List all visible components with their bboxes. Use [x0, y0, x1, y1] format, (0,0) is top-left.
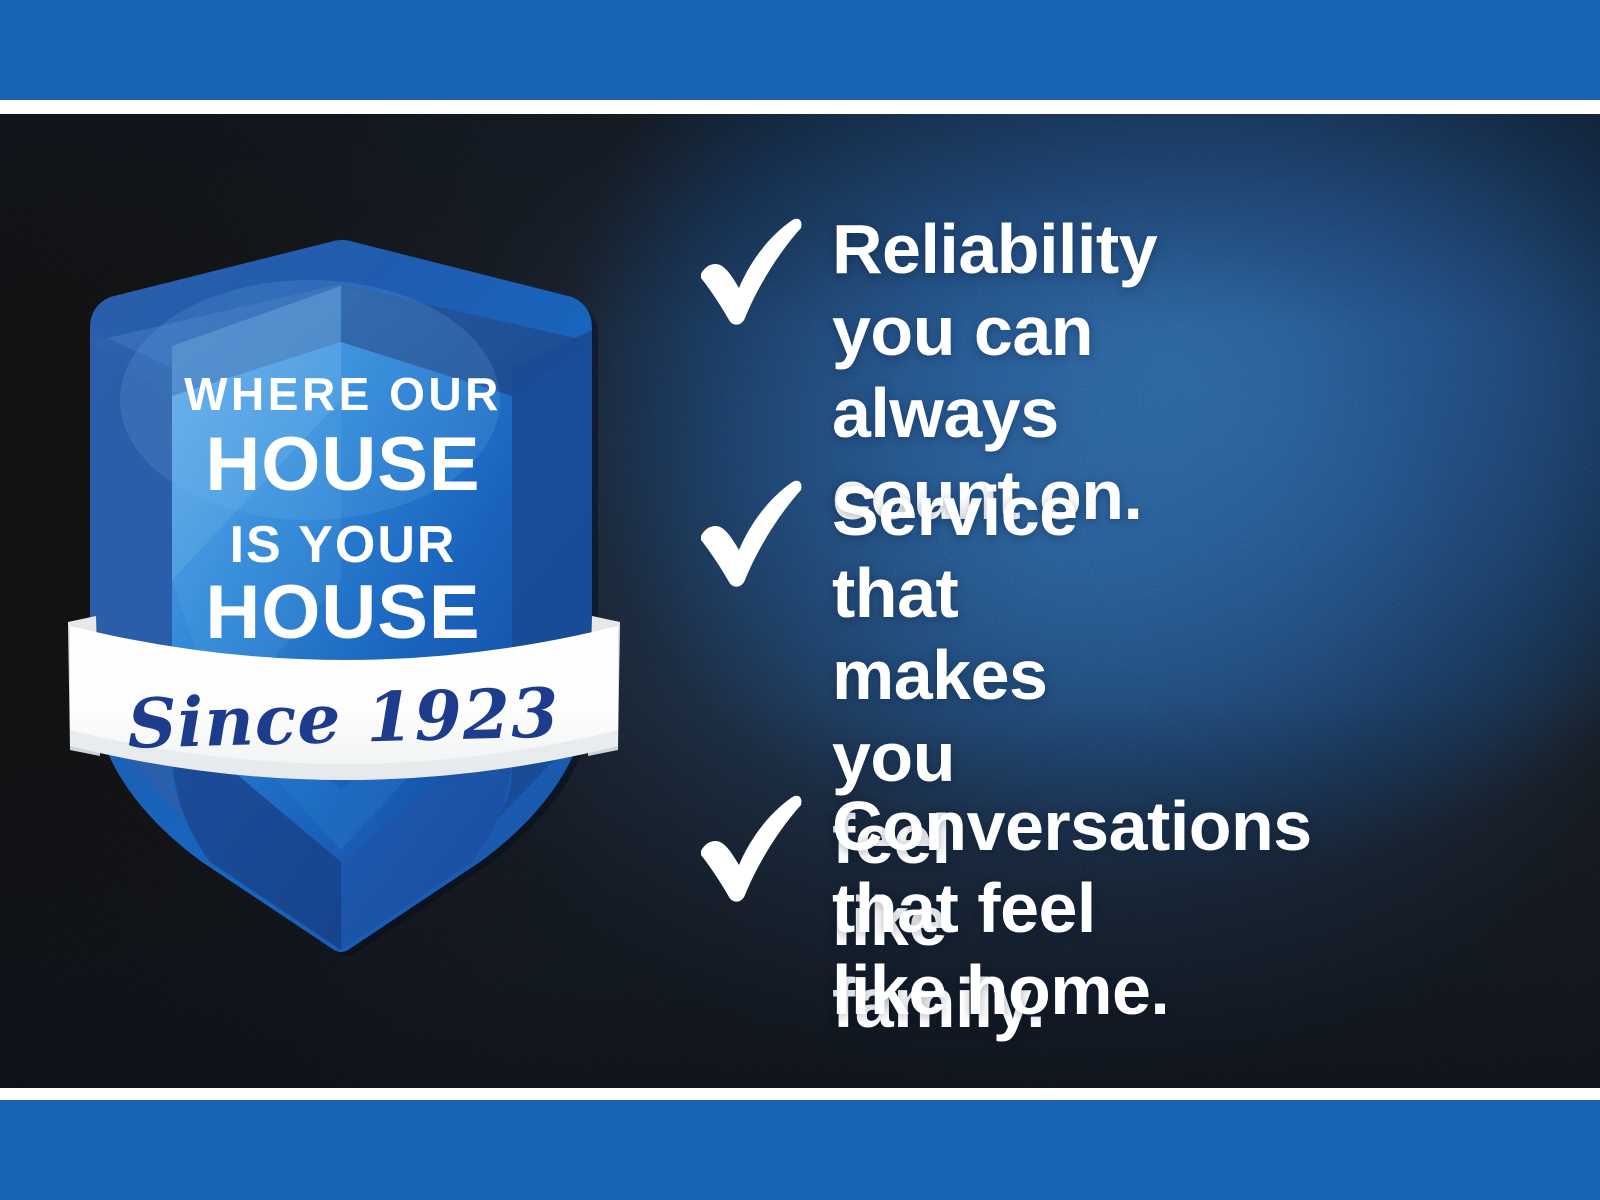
badge-line-1: WHERE OUR: [184, 368, 502, 420]
badge-line-3: IS YOUR: [230, 516, 457, 574]
badge-line-2: HOUSE: [205, 422, 480, 507]
checkmark-icon: [675, 785, 805, 905]
checkmark-icon: [675, 470, 805, 590]
bottom-brand-bar: [0, 1100, 1600, 1200]
checkmark-icon: [675, 208, 805, 328]
list-item-text: Conversations that feel like home.: [832, 785, 1312, 1031]
badge-since-text: Since 1923: [126, 673, 560, 764]
badge-line-4: HOUSE: [205, 570, 480, 655]
shield-badge: WHERE OUR HOUSE IS YOUR HOUSE Since 1923: [60, 250, 640, 970]
promo-poster: WHERE OUR HOUSE IS YOUR HOUSE Since 1923: [0, 0, 1600, 1200]
top-brand-bar: [0, 0, 1600, 100]
